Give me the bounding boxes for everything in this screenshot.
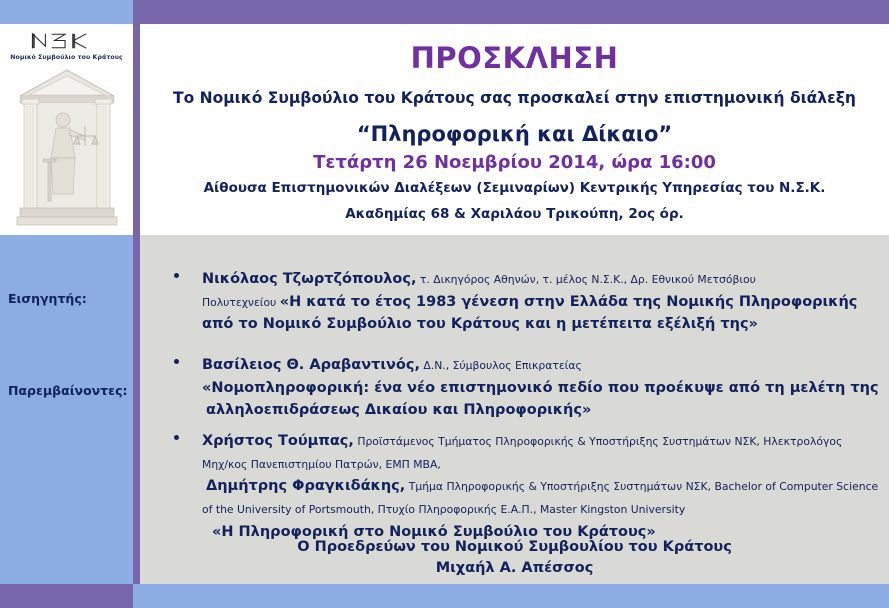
justice-relief-icon <box>15 66 119 232</box>
speaker-name: Νικόλαος Τζωρτζόπουλος, <box>202 271 416 287</box>
header-section: ΠΡΟΣΚΛΗΣΗ Το Νομικό Συμβούλιο του Κράτου… <box>140 24 889 235</box>
speaker-name: Χρήστος Τούμπας, <box>202 433 354 449</box>
speaker-credentials-secondary-cont: of the University of Portsmouth, Πτυχίο … <box>202 503 685 516</box>
entry-line: Χρήστος Τούμπας, Προϊστάμενος Τμήματος Π… <box>202 429 879 452</box>
label-discussants: Παρεμβαίνοντες: <box>8 383 128 398</box>
speaker-name: Βασίλειος Θ. Αραβαντινός, <box>202 357 420 373</box>
bullet-icon <box>174 273 179 278</box>
signatory-title: Ο Προεδρεύων του Νομικού Συμβουλίου του … <box>140 537 889 558</box>
closing-signature: Ο Προεδρεύων του Νομικού Συμβουλίου του … <box>140 537 889 579</box>
entry-body: Χρήστος Τούμπας, Προϊστάμενος Τμήματος Π… <box>202 429 879 543</box>
entry-line: Πολυτεχνείου «Η κατά το έτος 1983 γένεση… <box>202 290 879 313</box>
top-purple-band <box>133 0 889 24</box>
speaker-name-secondary: Δημήτρης Φραγκιδάκης, <box>206 478 405 494</box>
sidebar: Νομικό Συμβούλιο του Κράτους <box>0 24 133 584</box>
invitation-poster: Νομικό Συμβούλιο του Κράτους <box>0 0 889 608</box>
speaker-credentials-cont: Μηχ/κος Πανεπιστημίου Πατρών, ΕΜΠ MBA, <box>202 458 441 471</box>
entry-line: Νικόλαος Τζωρτζόπουλος, τ. Δικηγόρος Αθη… <box>202 267 879 290</box>
body-section: Νικόλαος Τζωρτζόπουλος, τ. Δικηγόρος Αθη… <box>140 235 889 584</box>
entry-line: «Νομοπληροφορική: ένα νέο επιστημονικό π… <box>202 376 879 399</box>
lecture-quote-line: από το Νομικό Συμβούλιο του Κράτους και … <box>202 316 758 332</box>
list-item: Χρήστος Τούμπας, Προϊστάμενος Τμήματος Π… <box>174 429 879 543</box>
entry-line: Μηχ/κος Πανεπιστημίου Πατρών, ΕΜΠ MBA, <box>202 452 879 475</box>
speaker-credentials: Προϊστάμενος Τμήματος Πληροφορικής & Υπο… <box>354 435 842 448</box>
list-item: Νικόλαος Τζωρτζόπουλος, τ. Δικηγόρος Αθη… <box>174 267 879 335</box>
page-title: ΠΡΟΣΚΛΗΣΗ <box>140 41 889 75</box>
lecture-title: “Πληροφορική και Δίκαιο” <box>140 122 889 146</box>
speaker-credentials: Δ.Ν., Σύμβουλος Επικρατείας <box>420 359 582 372</box>
invitation-subtitle: Το Νομικό Συμβούλιο του Κράτους σας προσ… <box>140 89 889 107</box>
entry-line: Δημήτρης Φραγκιδάκης, Τμήμα Πληροφορικής… <box>206 474 879 497</box>
event-address: Ακαδημίας 68 & Χαριλάου Τρικούπη, 2ος όρ… <box>140 206 889 222</box>
vertical-divider <box>133 24 140 584</box>
speaker-credentials-cont: Πολυτεχνείου <box>202 296 280 309</box>
event-venue: Αίθουσα Επιστημονικών Διαλέξεων (Σεμιναρ… <box>140 180 889 196</box>
nsk-logo-icon <box>19 29 115 53</box>
entry-line: αλληλοεπιδράσεως Δικαίου και Πληροφορική… <box>206 398 879 421</box>
list-item: Βασίλειος Θ. Αραβαντινός, Δ.Ν., Σύμβουλο… <box>174 353 879 421</box>
event-datetime: Τετάρτη 26 Νοεμβρίου 2014, ώρα 16:00 <box>140 152 889 173</box>
signatory-name: Μιχαήλ Α. Απέσσος <box>140 558 889 579</box>
entry-body: Νικόλαος Τζωρτζόπουλος, τ. Δικηγόρος Αθη… <box>202 267 879 335</box>
top-left-blue-band <box>0 0 133 24</box>
speaker-credentials: τ. Δικηγόρος Αθηνών, τ. μέλος Ν.Σ.Κ., Δρ… <box>416 273 755 286</box>
bullet-icon <box>174 435 179 440</box>
lecture-quote-line: «Η κατά το έτος 1983 γένεση στην Ελλάδα … <box>280 294 858 310</box>
lecture-quote-line: «Νομοπληροφορική: ένα νέο επιστημονικό π… <box>202 380 879 396</box>
entry-line: of the University of Portsmouth, Πτυχίο … <box>202 497 879 520</box>
logo-panel: Νομικό Συμβούλιο του Κράτους <box>0 24 133 235</box>
bullet-icon <box>174 359 179 364</box>
bottom-left-purple-band <box>0 584 133 608</box>
logo-caption: Νομικό Συμβούλιο του Κράτους <box>10 54 123 61</box>
entry-line: Βασίλειος Θ. Αραβαντινός, Δ.Ν., Σύμβουλο… <box>202 353 879 376</box>
label-speaker: Εισηγητής: <box>8 291 87 306</box>
lecture-quote-line: αλληλοεπιδράσεως Δικαίου και Πληροφορική… <box>206 402 591 418</box>
entry-line: από το Νομικό Συμβούλιο του Κράτους και … <box>202 312 879 335</box>
bottom-blue-band <box>133 584 889 608</box>
entry-body: Βασίλειος Θ. Αραβαντινός, Δ.Ν., Σύμβουλο… <box>202 353 879 421</box>
speaker-credentials-secondary: Τμήμα Πληροφορικής & Υποστήριξης Συστημά… <box>405 480 878 493</box>
